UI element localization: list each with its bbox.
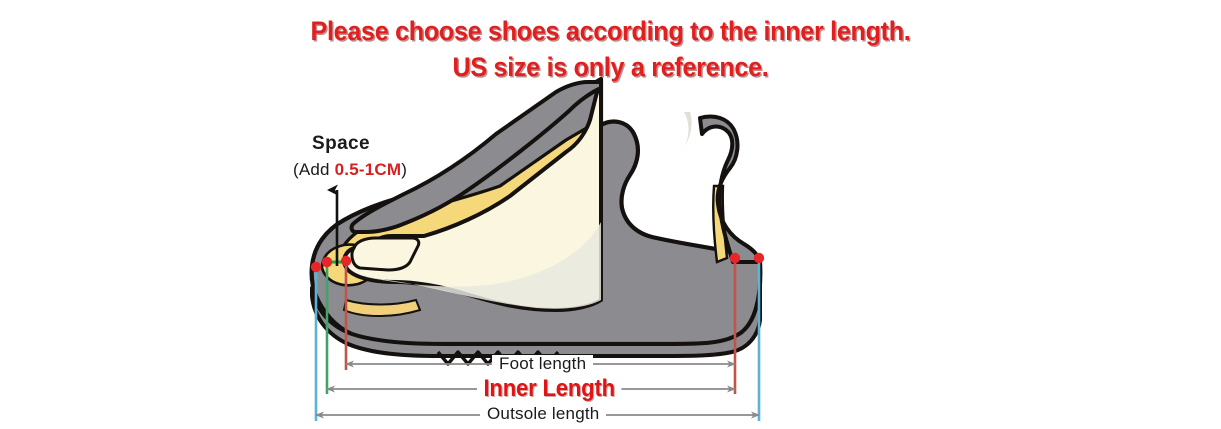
foot-length-label: Foot length [492, 355, 593, 372]
inner-length-label: Inner Length [477, 377, 621, 401]
shoe-fit-illustration [0, 0, 1221, 429]
marker-foot-left [341, 256, 351, 266]
marker-foot-right [730, 253, 740, 263]
ankle-crease [684, 112, 692, 148]
space-value: 0.5-1CM [335, 160, 402, 179]
space-label: Space [312, 134, 370, 153]
space-prefix: (Add [293, 160, 335, 179]
size-guide-infographic: Please choose shoes according to the inn… [0, 0, 1221, 429]
marker-outsole-right [754, 253, 764, 263]
outsole-length-label: Outsole length [480, 405, 606, 422]
marker-outsole-left [311, 262, 321, 272]
marker-inner-left [322, 257, 332, 267]
big-toe [352, 238, 419, 270]
space-sublabel: (Add 0.5-1CM) [293, 161, 407, 178]
space-suffix: ) [401, 160, 407, 179]
heel-counter [700, 117, 760, 263]
collar-notch [700, 117, 760, 263]
